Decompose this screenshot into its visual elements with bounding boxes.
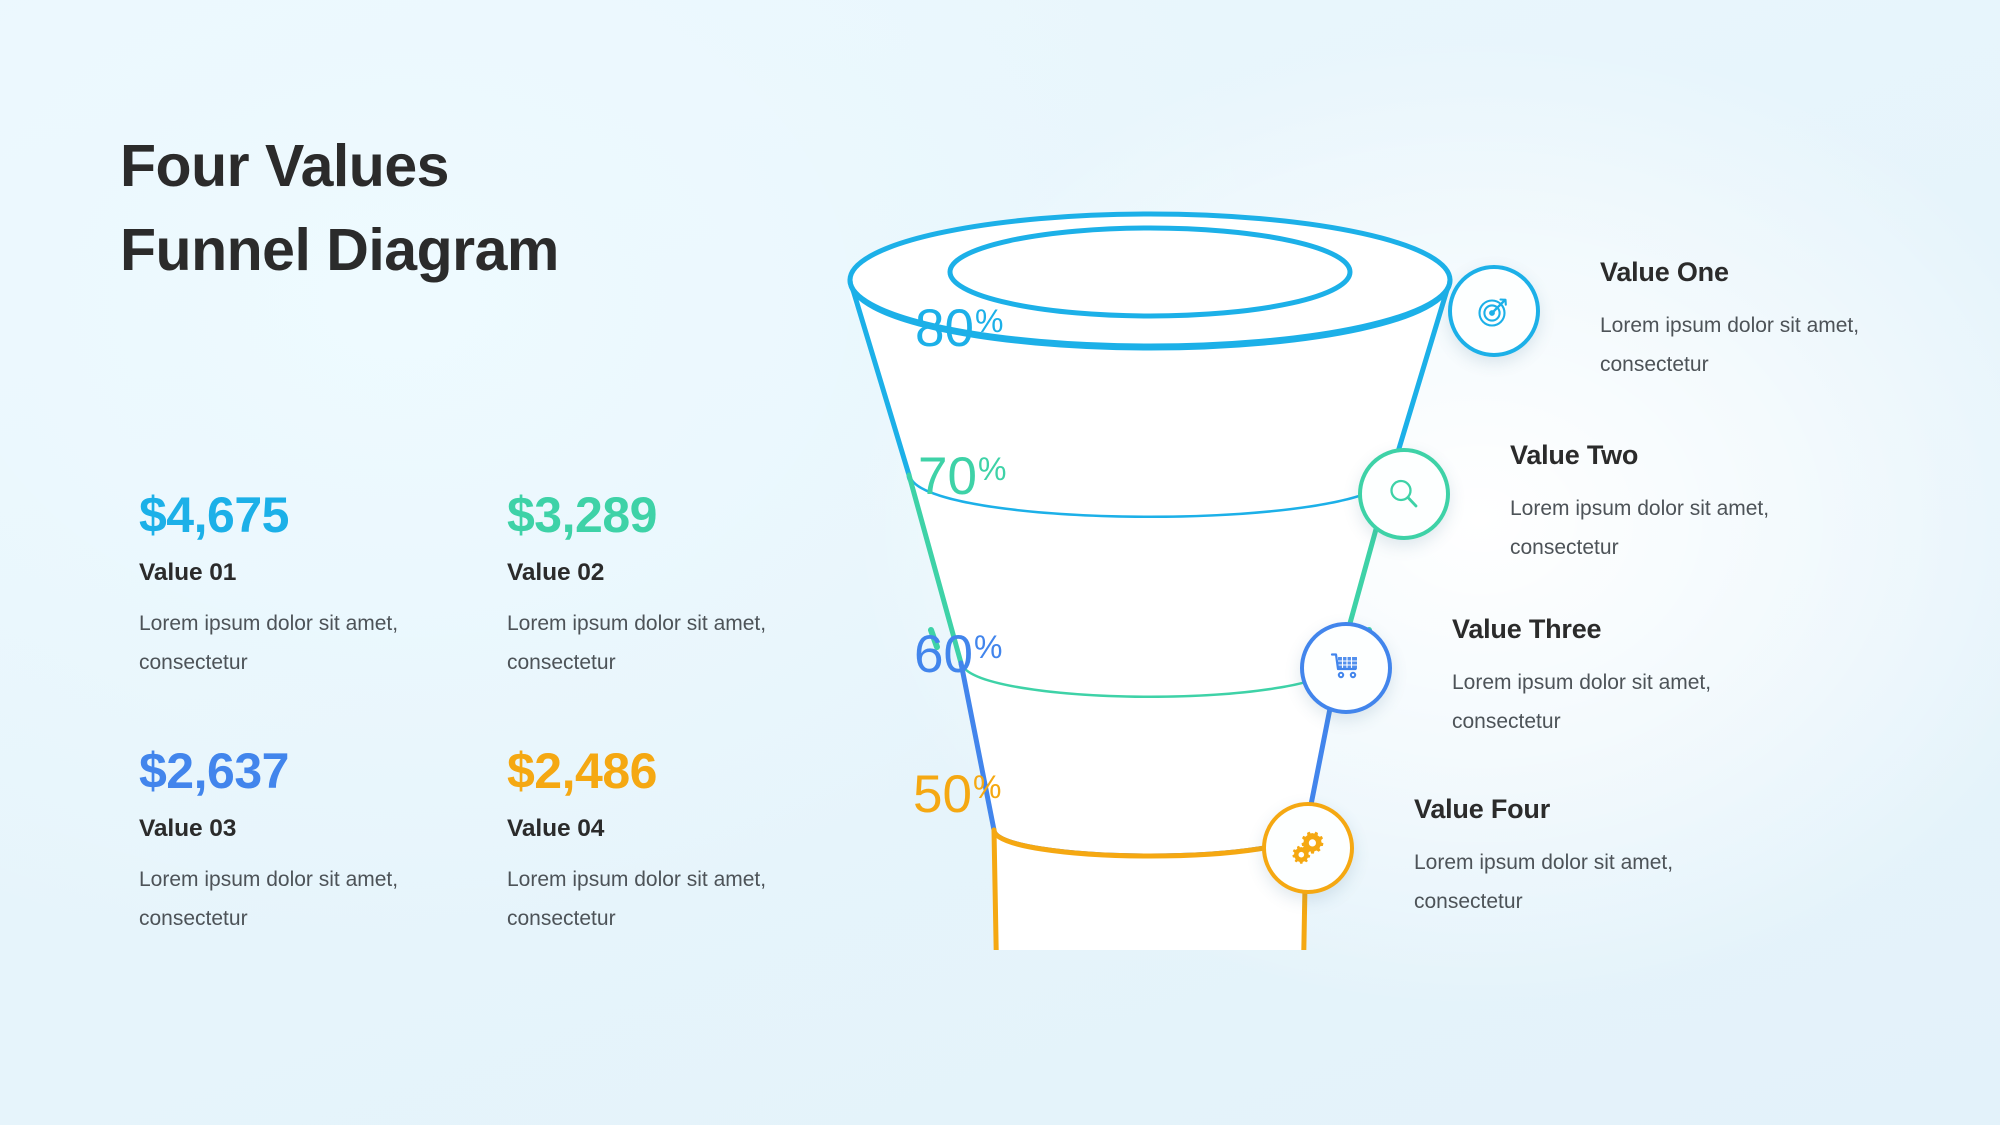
value-four-title: Value Four bbox=[1414, 794, 1744, 825]
gears-icon bbox=[1287, 827, 1329, 869]
stat-value: $2,637 bbox=[139, 746, 507, 796]
stat-block-1: $4,675 Value 01 Lorem ipsum dolor sit am… bbox=[139, 490, 507, 746]
funnel-percent-value: 70 bbox=[918, 447, 977, 506]
value-four-description: Lorem ipsum dolor sit amet, consectetur bbox=[1414, 844, 1744, 922]
funnel-percent-3: 60% bbox=[914, 628, 1002, 681]
funnel-percent-2: 70% bbox=[918, 450, 1006, 503]
value-three-text: Value Three Lorem ipsum dolor sit amet, … bbox=[1452, 614, 1782, 742]
value-three-description: Lorem ipsum dolor sit amet, consectetur bbox=[1452, 664, 1782, 742]
value-one-text: Value One Lorem ipsum dolor sit amet, co… bbox=[1600, 257, 1930, 385]
stat-description: Lorem ipsum dolor sit amet, consectetur bbox=[139, 861, 449, 939]
stat-value: $4,675 bbox=[139, 490, 507, 540]
percent-sign: % bbox=[974, 629, 1002, 665]
stat-description: Lorem ipsum dolor sit amet, consectetur bbox=[139, 605, 449, 683]
page-title-line-2: Funnel Diagram bbox=[120, 208, 820, 292]
stat-label: Value 01 bbox=[139, 559, 507, 587]
value-three-title: Value Three bbox=[1452, 614, 1782, 645]
funnel-percent-value: 50 bbox=[913, 765, 972, 824]
value-two-text: Value Two Lorem ipsum dolor sit amet, co… bbox=[1510, 440, 1840, 568]
value-three-icon-circle[interactable] bbox=[1300, 622, 1392, 714]
value-one-description: Lorem ipsum dolor sit amet, consectetur bbox=[1600, 307, 1930, 385]
funnel-percent-1: 80% bbox=[915, 302, 1003, 355]
percent-sign: % bbox=[975, 303, 1003, 339]
funnel-percent-value: 80 bbox=[915, 299, 974, 358]
target-icon bbox=[1473, 290, 1515, 332]
slide-canvas: Four Values Funnel Diagram $4,675 Value … bbox=[0, 0, 2000, 1125]
value-four-icon-circle[interactable] bbox=[1262, 802, 1354, 894]
shopping-cart-icon bbox=[1326, 648, 1366, 688]
funnel-percent-4: 50% bbox=[913, 768, 1001, 821]
value-one-icon-circle[interactable] bbox=[1448, 265, 1540, 357]
percent-sign: % bbox=[978, 451, 1006, 487]
value-two-icon-circle[interactable] bbox=[1358, 448, 1450, 540]
stat-block-3: $2,637 Value 03 Lorem ipsum dolor sit am… bbox=[139, 746, 507, 1002]
stat-label: Value 03 bbox=[139, 815, 507, 843]
page-title-line-1: Four Values bbox=[120, 124, 820, 208]
value-one-title: Value One bbox=[1600, 257, 1930, 288]
value-two-title: Value Two bbox=[1510, 440, 1840, 471]
page-title: Four Values Funnel Diagram bbox=[120, 124, 820, 293]
percent-sign: % bbox=[973, 769, 1001, 805]
value-two-description: Lorem ipsum dolor sit amet, consectetur bbox=[1510, 490, 1840, 568]
value-four-text: Value Four Lorem ipsum dolor sit amet, c… bbox=[1414, 794, 1744, 922]
search-icon bbox=[1384, 474, 1424, 514]
stats-grid: $4,675 Value 01 Lorem ipsum dolor sit am… bbox=[139, 490, 839, 1002]
funnel-percent-value: 60 bbox=[914, 625, 973, 684]
